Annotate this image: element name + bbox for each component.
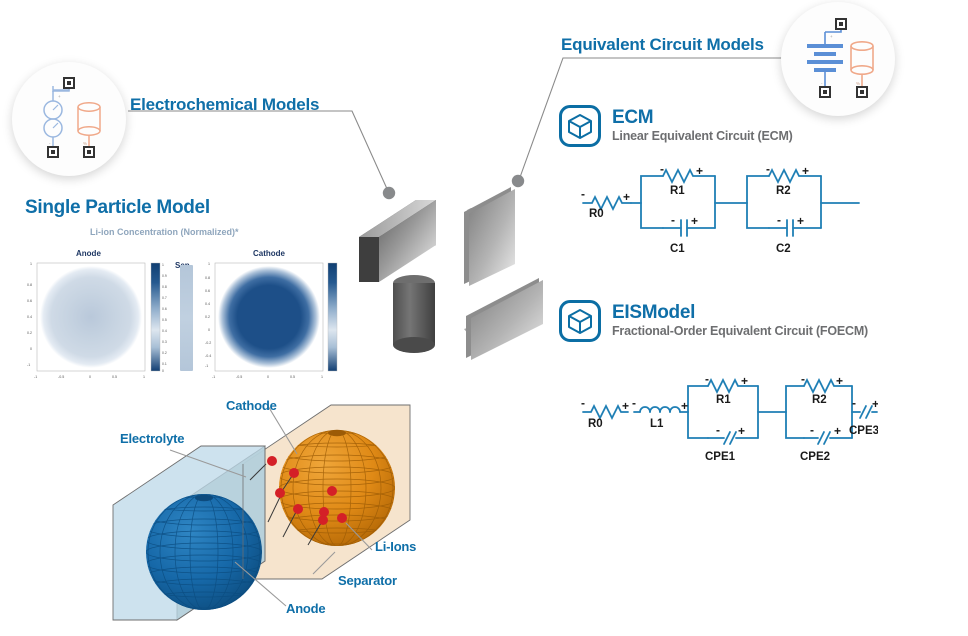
- svg-text:+: +: [830, 34, 833, 39]
- svg-text:-1: -1: [212, 375, 215, 379]
- diagram-canvas: + - %: [0, 0, 968, 636]
- svg-text:0: 0: [162, 369, 164, 373]
- svg-text:-: -: [632, 396, 636, 410]
- concentration-plots: -1 -0.5 0 0.5 1 1 0.8 0.6 0.4 0.2 0 -1 1…: [25, 257, 340, 382]
- svg-text:0.5: 0.5: [112, 375, 117, 379]
- svg-text:0: 0: [267, 375, 269, 379]
- ecm-label-r0: R0: [589, 208, 604, 220]
- svg-text:-: -: [660, 165, 664, 176]
- svg-text:+: +: [696, 165, 703, 178]
- equivalent-circuit-badge-icon: + - %: [781, 2, 895, 116]
- electrochemical-badge: + - %: [12, 62, 126, 176]
- single-particle-model-title: Single Particle Model: [25, 197, 210, 219]
- svg-text:-: -: [671, 213, 675, 227]
- svg-text:-0.2: -0.2: [205, 341, 211, 345]
- svg-text:0.3: 0.3: [162, 340, 167, 344]
- label-electrochemical-models: Electrochemical Models: [130, 95, 319, 115]
- svg-text:0.1: 0.1: [162, 362, 167, 366]
- svg-text:+: +: [797, 214, 804, 228]
- label-equivalent-circuit-models: Equivalent Circuit Models: [561, 35, 764, 55]
- model-desc-eismodel: Fractional-Order Equivalent Circuit (FOE…: [612, 324, 868, 340]
- svg-text:%: %: [856, 81, 860, 86]
- svg-text:0.7: 0.7: [162, 296, 167, 300]
- model-desc-ecm: Linear Equivalent Circuit (ECM): [612, 129, 793, 145]
- svg-text:-: -: [766, 165, 770, 176]
- ecm-label-r2: R2: [776, 185, 791, 197]
- svg-text:0: 0: [208, 328, 210, 332]
- svg-text:+: +: [58, 94, 61, 99]
- svg-text:0.6: 0.6: [205, 289, 210, 293]
- svg-text:-: -: [777, 213, 781, 227]
- anode-plot: -1 -0.5 0 0.5 1 1 0.8 0.6 0.4 0.2 0 -1: [27, 262, 145, 379]
- pouch-cell-lower: [464, 278, 543, 360]
- svg-text:+: +: [622, 399, 629, 413]
- cathode-plot: -1 -0.5 0 0.5 1 1 0.8 0.6 0.4 0.2 0 -0.2…: [205, 262, 323, 379]
- foecm-label-l1: L1: [650, 418, 664, 430]
- ecm-circuit: R0 R1 C1 R2 C2 -+ -+ -+ -+ -+: [575, 165, 865, 265]
- foecm-label-r2: R2: [812, 394, 827, 406]
- svg-text:+: +: [623, 190, 630, 204]
- foecm-label-cpe3: CPE3: [849, 425, 878, 437]
- svg-text:+: +: [681, 399, 688, 413]
- cell-label-li-ions: Li-Ions: [375, 539, 416, 554]
- svg-text:+: +: [834, 424, 841, 438]
- svg-text:0.2: 0.2: [27, 331, 32, 335]
- svg-text:-0.5: -0.5: [236, 375, 242, 379]
- svg-text:+: +: [836, 374, 843, 388]
- svg-text:-: -: [810, 423, 814, 437]
- foecm-circuit: R0 L1 R1 CPE1 R2 CPE2 CPE3 -+ -+ -+ -+ -…: [578, 372, 878, 464]
- svg-text:0.6: 0.6: [27, 299, 32, 303]
- svg-text:+: +: [741, 374, 748, 388]
- svg-text:-: -: [581, 187, 585, 201]
- anode-colorbar: 1 0.9 0.8 0.7 0.6 0.5 0.4 0.3 0.2 0.1 0: [151, 263, 167, 373]
- svg-text:0.5: 0.5: [162, 318, 167, 322]
- svg-text:-: -: [49, 141, 51, 146]
- equivalent-circuit-badge: + - %: [781, 2, 895, 116]
- svg-text:0.8: 0.8: [162, 285, 167, 289]
- svg-text:0.2: 0.2: [162, 351, 167, 355]
- svg-text:1: 1: [143, 375, 145, 379]
- svg-text:0.4: 0.4: [162, 329, 167, 333]
- cathode-particle: [279, 430, 395, 546]
- svg-text:+: +: [738, 424, 745, 438]
- ecm-label-r1: R1: [670, 185, 685, 197]
- svg-text:1: 1: [162, 263, 164, 267]
- svg-text:0.8: 0.8: [205, 276, 210, 280]
- separator-bar: [180, 265, 193, 371]
- cube-icon: [559, 105, 601, 147]
- battery-form-factors: [340, 160, 570, 390]
- svg-text:-1: -1: [205, 364, 208, 368]
- foecm-label-r0: R0: [588, 418, 603, 430]
- svg-text:1: 1: [321, 375, 323, 379]
- foecm-label-cpe1: CPE1: [705, 451, 736, 463]
- cell-label-cathode: Cathode: [226, 398, 277, 413]
- model-card-eismodel[interactable]: EISModel Fractional-Order Equivalent Cir…: [559, 300, 868, 342]
- svg-text:1: 1: [30, 262, 32, 266]
- cell-structure-diagram: [100, 392, 460, 636]
- svg-text:+: +: [802, 165, 809, 178]
- cell-label-separator: Separator: [338, 573, 397, 588]
- svg-text:-: -: [852, 396, 856, 410]
- cell-label-electrolyte: Electrolyte: [120, 431, 184, 446]
- svg-text:0.6: 0.6: [162, 307, 167, 311]
- svg-text:-0.4: -0.4: [205, 354, 211, 358]
- cube-icon: [559, 300, 601, 342]
- foecm-label-cpe2: CPE2: [800, 451, 830, 463]
- svg-text:0.9: 0.9: [162, 274, 167, 278]
- svg-text:-1: -1: [34, 375, 37, 379]
- svg-text:1: 1: [208, 262, 210, 266]
- svg-text:0.5: 0.5: [290, 375, 295, 379]
- anode-particle: [146, 494, 262, 610]
- svg-text:+: +: [691, 214, 698, 228]
- svg-text:+: +: [872, 397, 878, 411]
- ecm-label-c1: C1: [670, 243, 685, 255]
- svg-text:0.2: 0.2: [205, 315, 210, 319]
- svg-text:-: -: [716, 423, 720, 437]
- svg-text:0: 0: [30, 347, 32, 351]
- svg-text:0.4: 0.4: [27, 315, 32, 319]
- svg-text:-: -: [705, 372, 709, 386]
- svg-text:0: 0: [89, 375, 91, 379]
- svg-text:0.8: 0.8: [27, 283, 32, 287]
- model-card-ecm[interactable]: ECM Linear Equivalent Circuit (ECM): [559, 105, 793, 147]
- model-name-eismodel: EISModel: [612, 303, 868, 322]
- svg-text:0.4: 0.4: [205, 302, 210, 306]
- svg-text:-: -: [581, 396, 585, 410]
- svg-text:-0.5: -0.5: [58, 375, 64, 379]
- pouch-cell-upper: [464, 187, 515, 286]
- electrochemical-badge-icon: + - %: [12, 62, 126, 176]
- cylindrical-cell: [393, 275, 435, 353]
- svg-text:-: -: [801, 372, 805, 386]
- svg-text:-: -: [821, 81, 823, 86]
- ecm-label-c2: C2: [776, 243, 791, 255]
- svg-text:-1: -1: [27, 363, 30, 367]
- foecm-label-r1: R1: [716, 394, 731, 406]
- model-name-ecm: ECM: [612, 108, 793, 127]
- cathode-colorbar: [328, 263, 337, 371]
- svg-text:%: %: [83, 141, 87, 146]
- cell-label-anode: Anode: [286, 601, 325, 616]
- concentration-caption: Li-ion Concentration (Normalized)*: [90, 227, 239, 237]
- prismatic-cell: [359, 200, 436, 282]
